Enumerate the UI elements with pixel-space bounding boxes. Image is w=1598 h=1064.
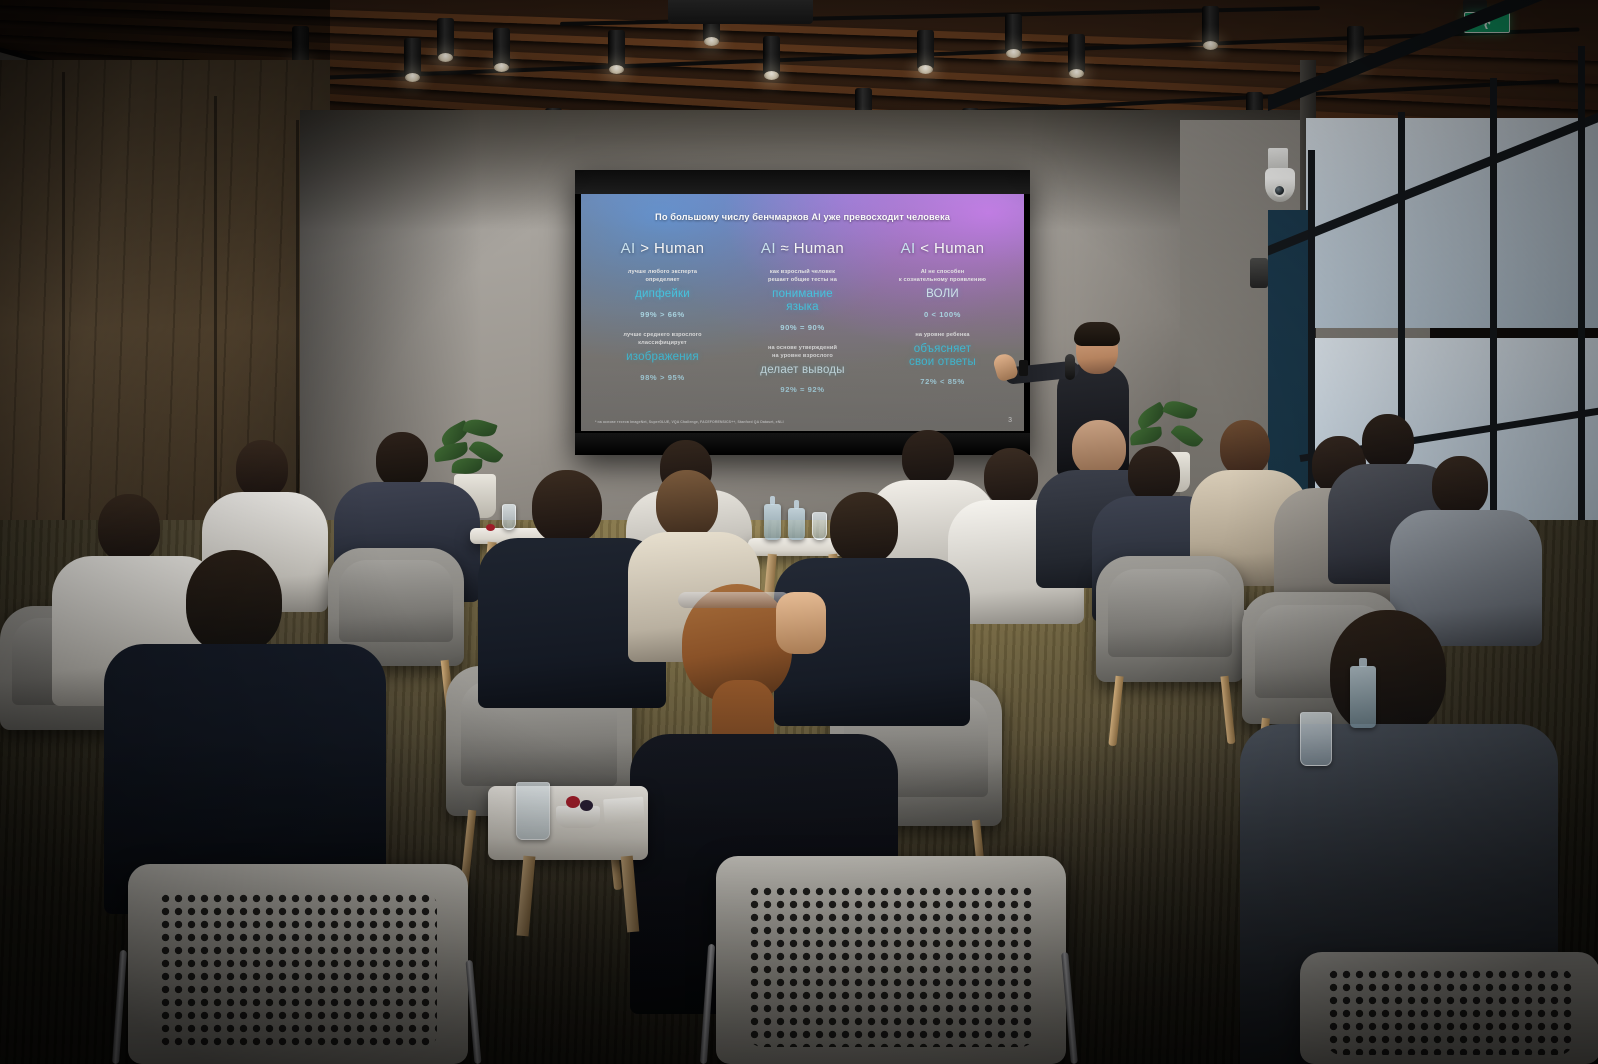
berry bbox=[580, 800, 593, 811]
column-heading: AI < Human bbox=[875, 240, 1010, 257]
track-spotlight bbox=[763, 36, 780, 76]
heading-operator: < bbox=[920, 240, 929, 257]
chair-perforations bbox=[159, 892, 438, 1048]
screen-bottom-bar bbox=[575, 433, 1030, 455]
block-lead-text: AI не способен к сознательному проявлени… bbox=[875, 269, 1010, 285]
slide-footnote: * на основе тестов ImageNet, SuperGLUE, … bbox=[595, 420, 784, 424]
water-glass bbox=[516, 782, 550, 840]
column-heading: AI > Human bbox=[595, 240, 730, 257]
slide-title: По большому числу бенчмарков AI уже прев… bbox=[581, 212, 1024, 222]
slide-surface: По большому числу бенчмарков AI уже прев… bbox=[581, 194, 1024, 431]
block-metric: 99% > 66% bbox=[595, 310, 730, 319]
water-glass bbox=[502, 504, 516, 530]
slide-column-ai-less: AI < Human AI не способен к сознательном… bbox=[875, 240, 1010, 407]
block-lead-text: на уровне ребенка bbox=[875, 332, 1010, 340]
block-keyword: понимание языка bbox=[735, 288, 870, 314]
block-keyword: объясняет свои ответы bbox=[875, 343, 1010, 369]
track-spotlight bbox=[404, 38, 421, 78]
water-glass bbox=[1300, 712, 1332, 766]
column-heading: AI ≈ Human bbox=[735, 240, 870, 257]
block-metric: 72% < 85% bbox=[875, 377, 1010, 386]
block-keyword: изображения bbox=[595, 351, 730, 364]
block-lead-text: лучше среднего взрослого классифицирует bbox=[595, 332, 730, 348]
heading-operator: ≈ bbox=[780, 240, 789, 257]
slide-column-ai-equal: AI ≈ Human как взрослый человек решает о… bbox=[735, 240, 870, 407]
block-metric: 90% = 90% bbox=[735, 323, 870, 332]
block-metric: 92% ≈ 92% bbox=[735, 385, 870, 394]
track-spotlight bbox=[1068, 34, 1085, 74]
slide-page-number: 3 bbox=[1008, 417, 1012, 424]
armchair bbox=[1096, 556, 1244, 682]
block-keyword: делает выводы bbox=[735, 364, 870, 377]
perforated-chair bbox=[1300, 952, 1598, 1064]
ptz-dome-security-camera bbox=[1265, 168, 1295, 202]
raised-hand bbox=[776, 592, 826, 654]
perforated-chair bbox=[716, 856, 1066, 1064]
track-spotlight bbox=[917, 30, 934, 70]
berry bbox=[486, 524, 495, 531]
water-bottle bbox=[764, 504, 781, 540]
presentation-room-photo: По большому числу бенчмарков AI уже прев… bbox=[0, 0, 1598, 1064]
presenter-wristwatch bbox=[1019, 360, 1028, 376]
block-lead-text: как взрослый человек решает общие тесты … bbox=[735, 269, 870, 285]
heading-ai-label: AI bbox=[901, 240, 916, 257]
track-spotlight bbox=[1005, 14, 1022, 54]
camera-lens-icon bbox=[1273, 184, 1286, 197]
projection-screen: По большому числу бенчмарков AI уже прев… bbox=[575, 170, 1030, 455]
presenter-microphone bbox=[1065, 354, 1075, 380]
chair-perforations bbox=[748, 885, 1035, 1047]
perforated-chair bbox=[128, 864, 468, 1064]
heading-operator: > bbox=[640, 240, 649, 257]
heading-human-label: Human bbox=[794, 240, 844, 257]
camera-wall-mount bbox=[1268, 148, 1288, 170]
dessert-bowl bbox=[556, 806, 600, 828]
track-spotlight bbox=[493, 28, 510, 68]
track-spotlight bbox=[437, 18, 454, 58]
slide-columns: AI > Human лучше любого эксперта определ… bbox=[595, 240, 1010, 407]
track-spotlight bbox=[1202, 6, 1219, 46]
block-lead-text: лучше любого эксперта определяет bbox=[595, 269, 730, 285]
heading-ai-label: AI bbox=[621, 240, 636, 257]
heading-ai-label: AI bbox=[761, 240, 776, 257]
block-metric: 98% > 95% bbox=[595, 373, 730, 382]
water-bottle bbox=[1350, 666, 1376, 728]
water-glass bbox=[812, 512, 827, 540]
napkin bbox=[603, 797, 645, 826]
block-metric: 0 < 100% bbox=[875, 310, 1010, 319]
screen-housing bbox=[668, 0, 813, 24]
heading-human-label: Human bbox=[934, 240, 984, 257]
wall-mounted-speaker bbox=[1250, 258, 1268, 288]
berry bbox=[566, 796, 580, 808]
track-spotlight bbox=[608, 30, 625, 70]
chair-perforations bbox=[1327, 968, 1573, 1055]
block-keyword: ВОЛИ bbox=[875, 288, 1010, 301]
block-lead-text: на основе утверждений на уровне взрослог… bbox=[735, 345, 870, 361]
sunglasses-on-head bbox=[678, 592, 790, 608]
block-keyword: дипфейки bbox=[595, 288, 730, 301]
water-bottle bbox=[788, 508, 805, 540]
housing-brand-label bbox=[740, 10, 742, 16]
presenter-hair bbox=[1074, 322, 1120, 346]
heading-human-label: Human bbox=[654, 240, 704, 257]
screen-top-bar bbox=[575, 170, 1030, 194]
slide-column-ai-greater: AI > Human лучше любого эксперта определ… bbox=[595, 240, 730, 407]
